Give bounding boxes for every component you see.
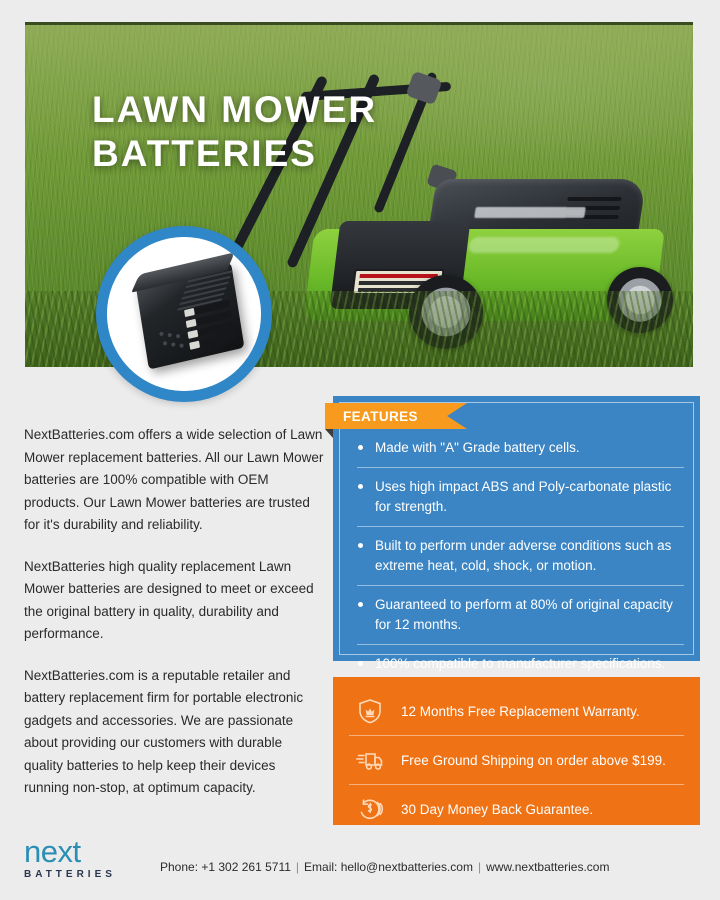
guarantees-list: 12 Months Free Replacement Warranty. Fre…	[349, 687, 684, 833]
features-ribbon-label: FEATURES	[343, 409, 418, 424]
battery-pack-image	[136, 262, 245, 369]
delivery-truck-icon	[355, 745, 385, 775]
feature-item: Guaranteed to perform at 80% of original…	[357, 595, 684, 645]
mower-vent	[567, 197, 622, 201]
guarantees-panel: 12 Months Free Replacement Warranty. Fre…	[333, 677, 700, 825]
guarantee-row-shipping: Free Ground Shipping on order above $199…	[349, 736, 684, 785]
features-ribbon: FEATURES	[325, 403, 467, 429]
guarantee-row-money-back: 30 Day Money Back Guarantee.	[349, 785, 684, 833]
hero-top-edge	[25, 22, 693, 25]
guarantee-text: 12 Months Free Replacement Warranty.	[401, 702, 640, 721]
footer: next BATTERIES Phone: +1 302 261 5711|Em…	[24, 836, 700, 884]
hero-title-line2: BATTERIES	[92, 133, 317, 174]
hero-title: LAWN MOWER BATTERIES	[92, 88, 377, 176]
guarantee-text: 30 Day Money Back Guarantee.	[401, 800, 593, 819]
footer-email[interactable]: Email: hello@nextbatteries.com	[304, 860, 473, 874]
guarantee-row-warranty: 12 Months Free Replacement Warranty.	[349, 687, 684, 736]
description-paragraph-3: NextBatteries.com is a reputable retaile…	[24, 665, 324, 800]
mower-body-highlight	[467, 237, 620, 253]
feature-item: Made with "A" Grade battery cells.	[357, 438, 684, 468]
description-paragraph-2: NextBatteries high quality replacement L…	[24, 556, 324, 646]
footer-divider: |	[473, 860, 486, 874]
flyer-page: LAWN MOWER BATTERIES NextBatteries	[0, 0, 720, 900]
shield-warranty-icon	[355, 696, 385, 726]
footer-website[interactable]: www.nextbatteries.com	[486, 860, 609, 874]
description-paragraph-1: NextBatteries.com offers a wide selectio…	[24, 424, 324, 537]
guarantee-text: Free Ground Shipping on order above $199…	[401, 751, 666, 770]
footer-divider: |	[291, 860, 304, 874]
battery-product-badge	[96, 226, 272, 402]
description-copy: NextBatteries.com offers a wide selectio…	[24, 424, 324, 819]
feature-item: Built to perform under adverse condition…	[357, 536, 684, 586]
money-back-icon	[355, 794, 385, 824]
brand-logo[interactable]: next BATTERIES	[24, 836, 132, 880]
features-ribbon-shadow	[325, 429, 333, 438]
battery-embossed-dots	[159, 326, 188, 354]
battery-terminal-slots	[184, 300, 236, 354]
features-list: Made with "A" Grade battery cells. Uses …	[357, 438, 684, 692]
features-ribbon-tag: FEATURES	[325, 403, 467, 429]
footer-contact: Phone: +1 302 261 5711|Email: hello@next…	[160, 860, 609, 874]
hero-title-line1: LAWN MOWER	[92, 89, 377, 130]
logo-wordmark: next	[24, 836, 132, 868]
mower-brand-text	[474, 207, 586, 218]
features-panel: FEATURES Made with "A" Grade battery cel…	[333, 396, 700, 661]
feature-item: Uses high impact ABS and Poly-carbonate …	[357, 477, 684, 527]
battery-badge-inner	[107, 237, 261, 391]
footer-phone[interactable]: Phone: +1 302 261 5711	[160, 860, 291, 874]
logo-subtitle: BATTERIES	[24, 869, 132, 880]
